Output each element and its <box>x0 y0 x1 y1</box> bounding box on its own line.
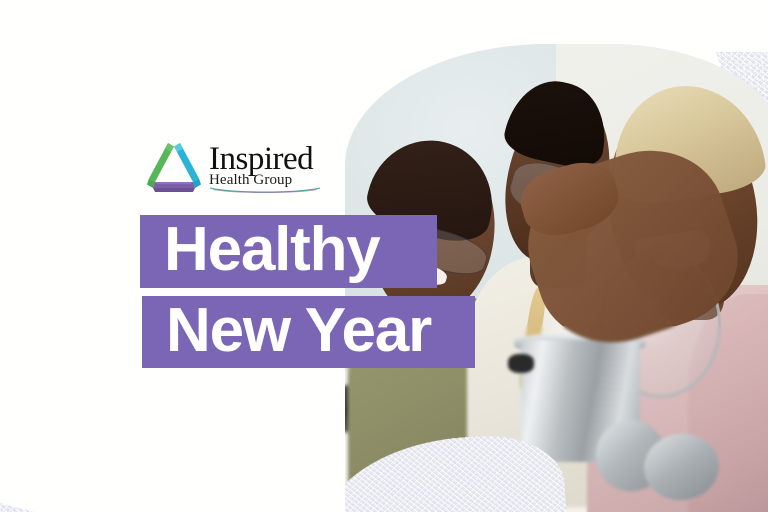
brand-tagline: Health Group <box>209 173 321 188</box>
headline-band-line2: New Year <box>142 296 475 368</box>
brand-name: Inspired <box>209 143 313 176</box>
brand-logo[interactable]: Inspired Health Group <box>145 140 323 196</box>
swoosh-underline-icon <box>209 187 321 194</box>
healthy-new-year-banner: Inspired Health Group Healthy New Year <box>0 0 768 512</box>
pot-handle <box>508 354 534 373</box>
brand-wordmark: Inspired Health Group <box>209 143 323 194</box>
headline-line1: Healthy <box>140 219 380 281</box>
triangle-logo-icon <box>145 140 203 196</box>
brand-tagline-wrap: Health Group <box>209 173 323 194</box>
headline-line2: New Year <box>142 300 431 362</box>
headline-band-line1: Healthy <box>140 215 437 288</box>
